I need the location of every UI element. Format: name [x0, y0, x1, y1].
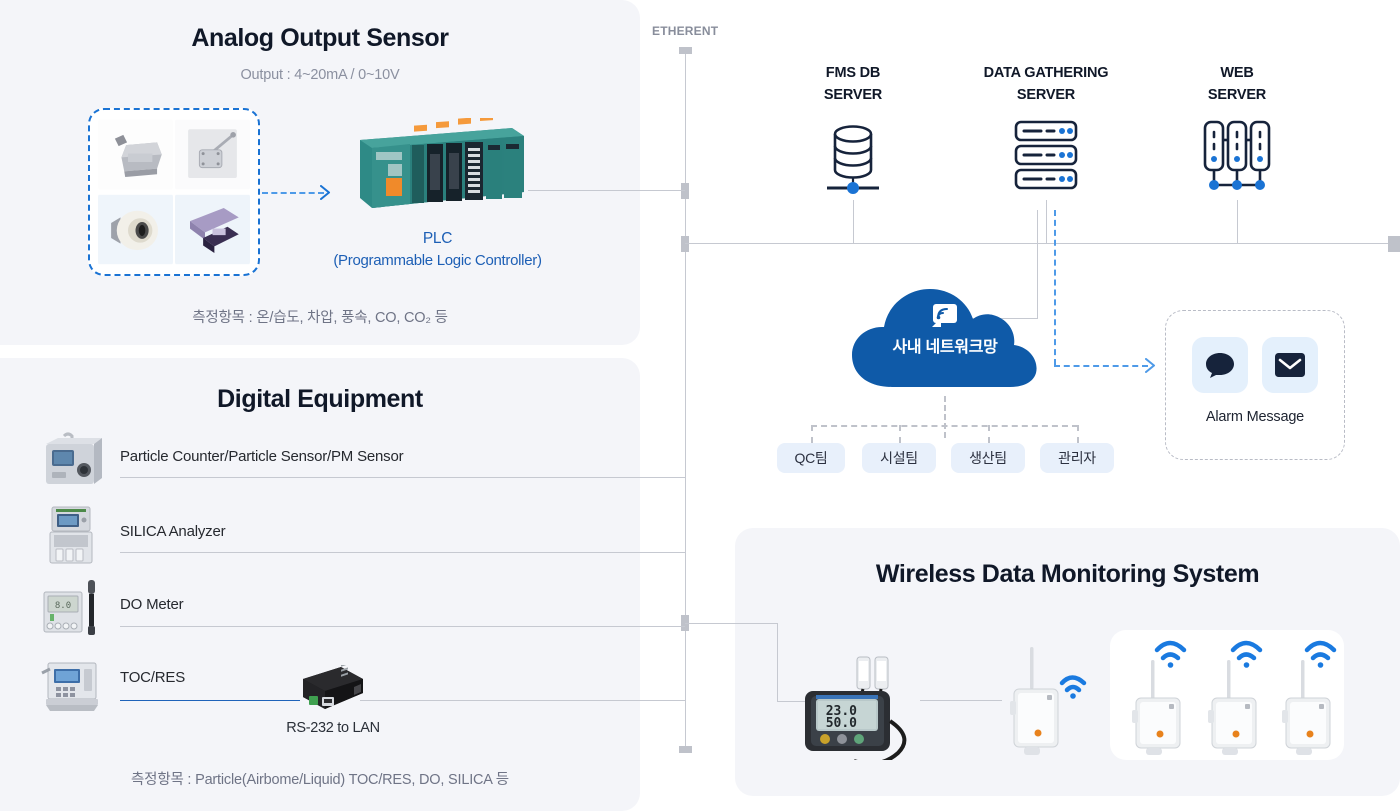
ethernet-to-wireless-horizontal	[685, 623, 777, 624]
data-gathering-server-title-2: SERVER	[946, 84, 1146, 106]
wireless-sensor-node-1	[1124, 638, 1204, 756]
alarm-message-box: Alarm Message	[1165, 310, 1345, 460]
fms-db-server-title-2: SERVER	[773, 84, 933, 106]
sensor-to-plc-arrowhead	[320, 185, 334, 200]
ethernet-bottom-nub	[679, 746, 692, 753]
web-server: WEB SERVER	[1157, 62, 1317, 194]
sensor-photo-2	[175, 118, 250, 191]
rss-cast-icon	[932, 303, 958, 327]
chat-bubble-icon[interactable]	[1192, 337, 1248, 393]
gathering-to-alarm-dashed-v	[1054, 210, 1056, 365]
team-badge-qc-label: QC팀	[795, 448, 828, 468]
fms-db-server-title-1: FMS DB	[773, 62, 933, 84]
wireless-sensor-node-group	[1110, 630, 1344, 760]
particle-counter-image	[38, 430, 104, 490]
cloud-to-teams-rail	[811, 425, 1078, 427]
alarm-message-label: Alarm Message	[1206, 409, 1304, 425]
digital-panel-footer: 측정항목 : Particle(Airbome/Liquid) TOC/RES,…	[0, 768, 640, 789]
wireless-panel-title: Wireless Data Monitoring System	[735, 560, 1400, 589]
web-server-title-2: SERVER	[1157, 84, 1317, 106]
plc-label-line1: PLC	[300, 228, 575, 250]
web-server-drop-line	[1237, 200, 1238, 243]
server-bus-end-nub	[1388, 236, 1400, 252]
team-badge-production-label: 생산팀	[969, 448, 1007, 468]
alarm-icon-group	[1192, 337, 1318, 393]
equipment-row-silica-analyzer: SILICA Analyzer	[0, 505, 640, 579]
team-badge-manager-label: 관리자	[1058, 448, 1096, 468]
equipment-name-2: SILICA Analyzer	[120, 523, 225, 540]
plc-device-image	[352, 118, 527, 218]
equipment-row-particle-counter: Particle Counter/Particle Sensor/PM Sens…	[0, 430, 640, 504]
server-bus-line	[685, 243, 1391, 244]
wireless-relay-node-image	[1000, 645, 1092, 760]
silica-analyzer-image	[38, 505, 104, 565]
digital-panel-title: Digital Equipment	[0, 385, 640, 414]
team-drop-manager	[1077, 425, 1079, 443]
internal-network-cloud: 사내 네트워크망	[850, 283, 1040, 393]
analog-panel-subtitle: Output : 4~20mA / 0~10V	[0, 67, 640, 83]
analog-panel-footer: 측정항목 : 온/습도, 차압, 풍속, CO, CO₂ 등	[0, 306, 640, 327]
analog-panel-title: Analog Output Sensor	[0, 24, 640, 53]
svg-text:50.0: 50.0	[826, 716, 857, 731]
data-gathering-drop-line	[1046, 200, 1047, 243]
data-gathering-server-title-1: DATA GATHERING	[946, 62, 1146, 84]
web-server-title-1: WEB	[1157, 62, 1317, 84]
data-gathering-server: DATA GATHERING SERVER	[946, 62, 1146, 192]
sensor-photo-1	[98, 118, 173, 191]
gathering-to-alarm-dashed-h	[1054, 365, 1148, 367]
toc-res-image	[38, 655, 104, 715]
equipment-name-3: DO Meter	[120, 596, 183, 613]
ethernet-backbone-line	[685, 52, 686, 752]
server-rack-icon	[946, 118, 1146, 192]
web-server-icon	[1157, 118, 1317, 194]
team-badge-production[interactable]: 생산팀	[951, 443, 1025, 473]
sensor-photo-4	[175, 193, 250, 266]
database-icon	[773, 118, 933, 196]
team-drop-facility	[899, 425, 901, 443]
rs232-label: RS-232 to LAN	[245, 720, 421, 736]
wireless-data-logger-image: 23.0 50.0	[795, 655, 935, 760]
system-architecture-diagram: ETHERENT Analog Output Sensor Output : 4…	[0, 0, 1400, 811]
plc-to-ethernet-line	[528, 190, 685, 191]
ethernet-label: ETHERENT	[652, 24, 718, 38]
team-badge-qc[interactable]: QC팀	[777, 443, 845, 473]
svg-text:8.0: 8.0	[55, 601, 71, 611]
equipment-name-4: TOC/RES	[120, 669, 185, 686]
envelope-icon[interactable]	[1262, 337, 1318, 393]
plc-label: PLC (Programmable Logic Controller)	[300, 228, 575, 272]
equipment-name-1: Particle Counter/Particle Sensor/PM Sens…	[120, 448, 403, 465]
do-meter-image: 8.0	[38, 578, 104, 638]
sensor-photo-3	[98, 193, 173, 266]
team-drop-production	[988, 425, 990, 443]
team-badge-facility-label: 시설팀	[880, 448, 918, 468]
fms-db-drop-line	[853, 200, 854, 243]
ethernet-nub-servers	[681, 236, 689, 252]
ethernet-top-nub	[679, 47, 692, 54]
cloud-to-teams-trunk	[944, 396, 946, 438]
plc-label-line2: (Programmable Logic Controller)	[300, 250, 575, 272]
ethernet-to-wireless-vertical	[777, 623, 778, 701]
rs232-to-lan-converter-image	[297, 665, 369, 717]
analog-sensor-photo-group	[88, 108, 260, 276]
sensor-to-plc-dashed	[262, 192, 324, 194]
ethernet-nub-plc	[681, 183, 689, 199]
equipment-row-do-meter: 8.0 DO Meter	[0, 578, 640, 652]
team-badge-manager[interactable]: 관리자	[1040, 443, 1114, 473]
wireless-sensor-node-3	[1274, 638, 1354, 756]
gathering-to-alarm-arrowhead	[1145, 358, 1159, 373]
team-badge-facility[interactable]: 시설팀	[862, 443, 936, 473]
wireless-sensor-node-2	[1200, 638, 1280, 756]
fms-db-server: FMS DB SERVER	[773, 62, 933, 196]
team-drop-qc	[811, 425, 813, 443]
